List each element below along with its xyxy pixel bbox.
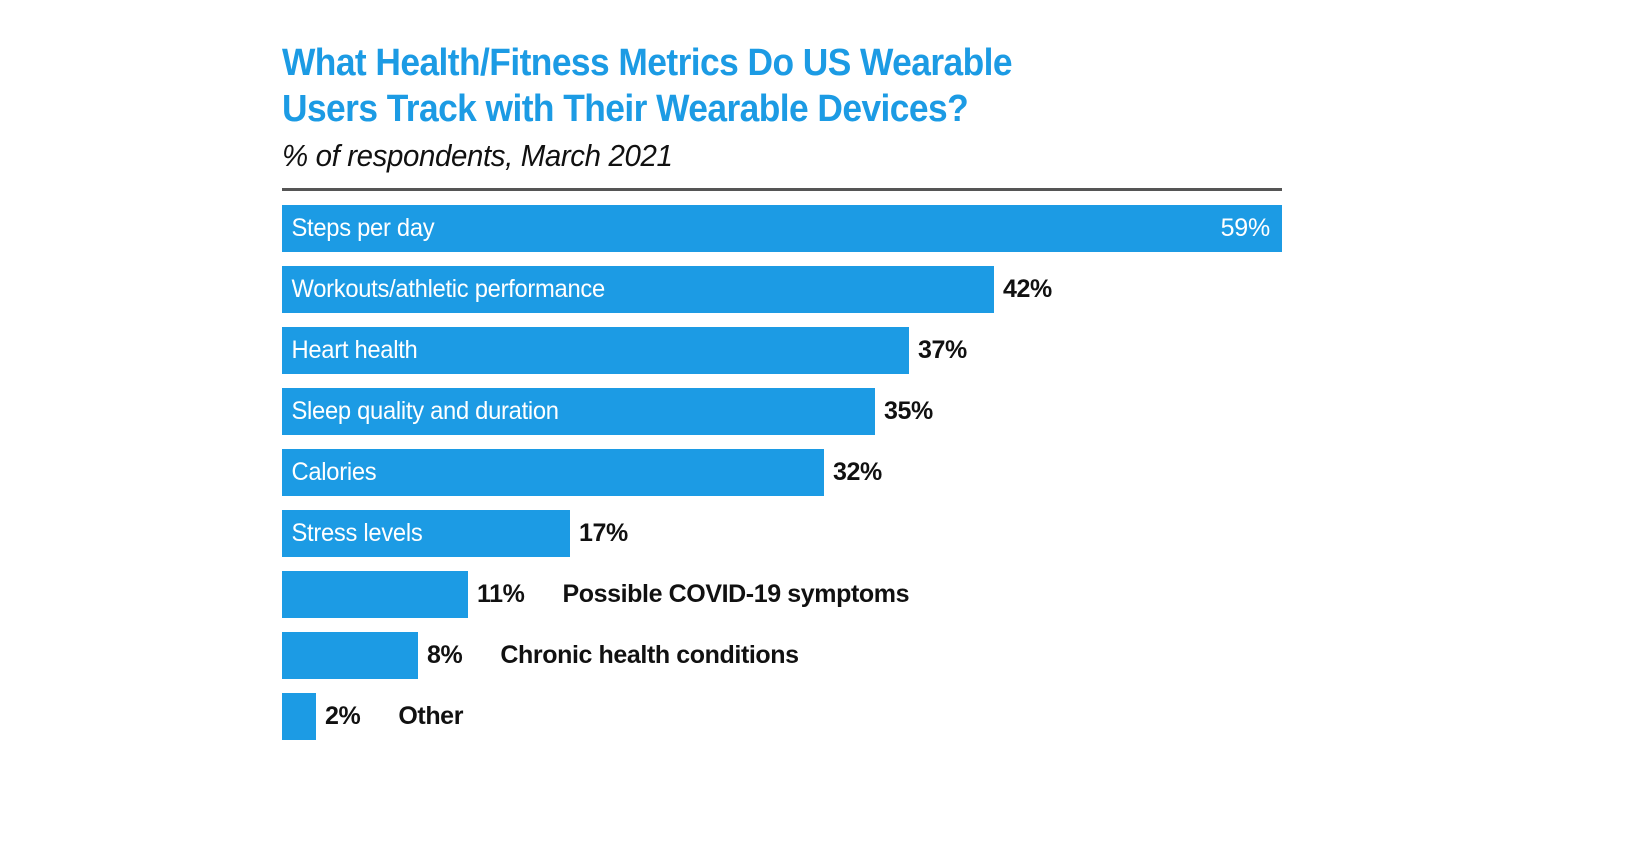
bar-row: Heart health37% xyxy=(282,327,1282,374)
bar-row: 8%Chronic health conditions xyxy=(282,632,1282,679)
bar-value-label: 8% xyxy=(418,632,462,679)
bar-category-label: Heart health xyxy=(282,336,417,365)
bar-value-label: 17% xyxy=(570,510,628,557)
chart-subtitle: % of respondents, March 2021 xyxy=(282,136,1232,176)
bar-row: Workouts/athletic performance42% xyxy=(282,266,1282,313)
bar-rect: Stress levels xyxy=(282,510,570,557)
bar-rect: Sleep quality and duration xyxy=(282,388,875,435)
bar-value-label: 2% xyxy=(316,693,360,740)
bar-chart-plot: Steps per day59%Workouts/athletic perfor… xyxy=(282,205,1282,740)
bar-value-label: 59% xyxy=(1221,214,1282,243)
chart-figure: What Health/Fitness Metrics Do US Wearab… xyxy=(282,40,1282,754)
title-divider xyxy=(282,188,1282,191)
bar-value-label: 32% xyxy=(824,449,882,496)
bar-row: Sleep quality and duration35% xyxy=(282,388,1282,435)
bar-category-label: Stress levels xyxy=(282,519,422,548)
bar-category-label: Chronic health conditions xyxy=(462,632,798,679)
bar-category-label: Steps per day xyxy=(282,214,434,243)
bar-row: 11%Possible COVID-19 symptoms xyxy=(282,571,1282,618)
bar-rect: Calories xyxy=(282,449,824,496)
bar-rect xyxy=(282,571,468,618)
bar-rect xyxy=(282,632,418,679)
bar-rect: Workouts/athletic performance xyxy=(282,266,994,313)
bar-category-label: Possible COVID-19 symptoms xyxy=(524,571,909,618)
bar-row: Stress levels17% xyxy=(282,510,1282,557)
bar-category-label: Workouts/athletic performance xyxy=(282,275,605,304)
bar-value-label: 35% xyxy=(875,388,933,435)
bar-row: Steps per day59% xyxy=(282,205,1282,252)
bar-category-label: Other xyxy=(360,693,463,740)
bar-value-label: 11% xyxy=(468,571,524,618)
bar-category-label: Calories xyxy=(282,458,376,487)
bar-rect xyxy=(282,693,316,740)
chart-title: What Health/Fitness Metrics Do US Wearab… xyxy=(282,40,1212,132)
bar-rect: Heart health xyxy=(282,327,909,374)
bar-rect: Steps per day59% xyxy=(282,205,1282,252)
bar-row: 2%Other xyxy=(282,693,1282,740)
bar-value-label: 37% xyxy=(909,327,967,374)
bar-row: Calories32% xyxy=(282,449,1282,496)
bar-value-label: 42% xyxy=(994,266,1052,313)
bar-category-label: Sleep quality and duration xyxy=(282,397,559,426)
